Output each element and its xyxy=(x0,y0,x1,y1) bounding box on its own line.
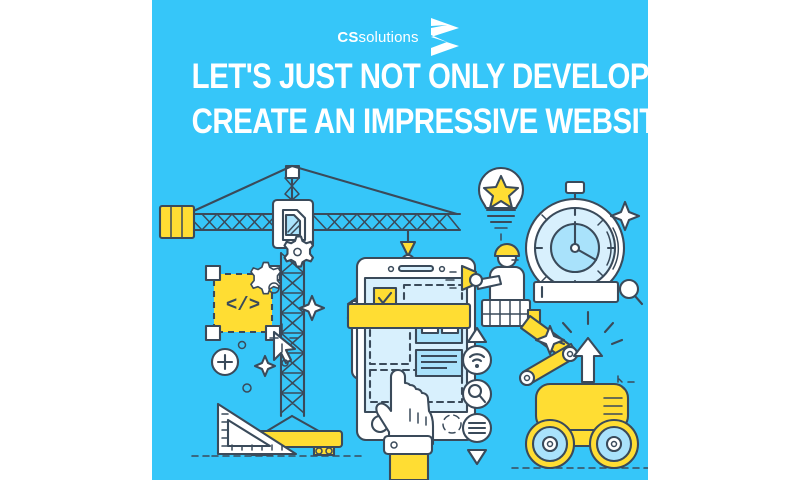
brand-lockup: CSsolutions xyxy=(152,14,648,60)
poster-canvas: CSsolutions LET'S JUST NOT ONLY DEVELOP … xyxy=(152,0,648,480)
headline-line-1: LET'S JUST NOT ONLY DEVELOP but xyxy=(192,56,609,101)
crane-cab xyxy=(273,200,313,248)
menu-icon[interactable] xyxy=(463,414,491,442)
stopwatch xyxy=(526,182,624,297)
plus-circle-icon xyxy=(212,349,238,375)
search-icon[interactable] xyxy=(463,380,491,408)
triangle-down-icon[interactable] xyxy=(468,450,486,464)
s-chevron-logo-mark-icon xyxy=(429,17,463,57)
brand-name: CSsolutions xyxy=(337,29,418,46)
headline: LET'S JUST NOT ONLY DEVELOP but CREATE A… xyxy=(152,56,648,143)
headline-line-2: CREATE AN IMPRESSIVE WEBSITE xyxy=(192,101,609,143)
headline-line-1-main: LET'S JUST NOT ONLY DEVELOP xyxy=(192,57,648,96)
wifi-icon[interactable] xyxy=(463,346,491,374)
tablet-yellow-banner xyxy=(348,304,470,328)
crane-counterweight xyxy=(160,206,194,238)
illustration: .ln{fill:none;stroke:#3a4a5a;stroke-widt… xyxy=(152,148,648,480)
crane-cab-document-icon xyxy=(283,210,305,240)
brand-name-bold: CS xyxy=(337,29,358,46)
search-bar[interactable] xyxy=(534,280,642,304)
brand-name-rest: solutions xyxy=(358,29,418,46)
svg-text:</>: </> xyxy=(226,294,260,316)
poster-stage: CSsolutions LET'S JUST NOT ONLY DEVELOP … xyxy=(0,0,800,480)
sparkle-small-icon xyxy=(255,356,275,376)
